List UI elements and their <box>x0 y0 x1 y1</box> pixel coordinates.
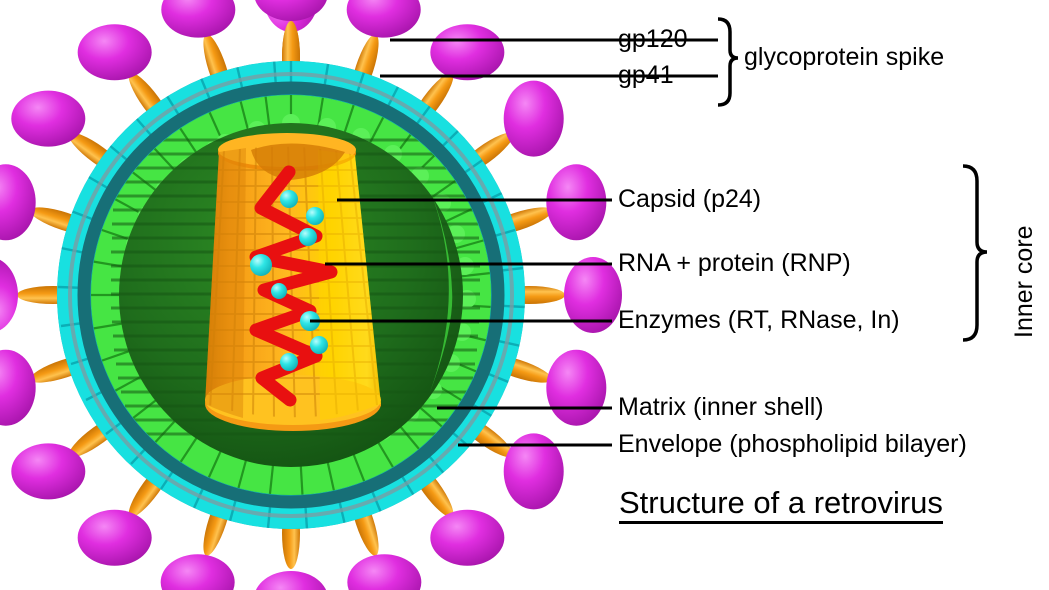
label-inner-core: Inner core <box>1012 225 1037 338</box>
label-gp41: gp41 <box>618 63 674 88</box>
gp120-knob <box>504 81 564 157</box>
gp120-knob <box>0 350 36 426</box>
gp120-knob <box>11 443 85 499</box>
gp120-knob <box>546 164 606 240</box>
enzyme-dot <box>306 207 324 225</box>
gp120-knob <box>0 164 36 240</box>
label-enzymes: Enzymes (RT, RNase, In) <box>618 308 900 333</box>
diagram-canvas: gp120 gp41 glycoprotein spike Capsid (p2… <box>0 0 1049 590</box>
gp120-knob <box>254 0 328 21</box>
label-rnp: RNA + protein (RNP) <box>618 251 851 276</box>
gp120-knob <box>78 24 152 80</box>
label-matrix: Matrix (inner shell) <box>618 395 824 420</box>
gp120-knob <box>161 0 235 38</box>
label-gp120: gp120 <box>618 27 688 52</box>
gp120-knob <box>546 350 606 426</box>
enzyme-dot <box>271 283 287 299</box>
label-glycoprotein-spike: glycoprotein spike <box>744 45 944 70</box>
gp120-knob <box>430 510 504 566</box>
gp120-knob <box>161 554 235 590</box>
diagram-title: Structure of a retrovirus <box>619 487 943 524</box>
enzyme-dot <box>280 190 298 208</box>
enzyme-dot <box>299 228 317 246</box>
enzyme-dot <box>280 353 298 371</box>
gp120-knob <box>78 510 152 566</box>
enzyme-dot <box>310 336 328 354</box>
gp120-knob <box>11 91 85 147</box>
gp120-knob <box>430 24 504 80</box>
enzyme-dot <box>250 254 272 276</box>
gp120-knob <box>254 571 328 590</box>
label-envelope: Envelope (phospholipid bilayer) <box>618 432 967 457</box>
label-capsid: Capsid (p24) <box>618 187 761 212</box>
gp120-knob <box>347 0 421 38</box>
gp120-knob <box>0 257 18 333</box>
gp120-knob <box>347 554 421 590</box>
brace-inner-core <box>963 166 987 340</box>
brace-glycoprotein-spike <box>718 19 738 105</box>
